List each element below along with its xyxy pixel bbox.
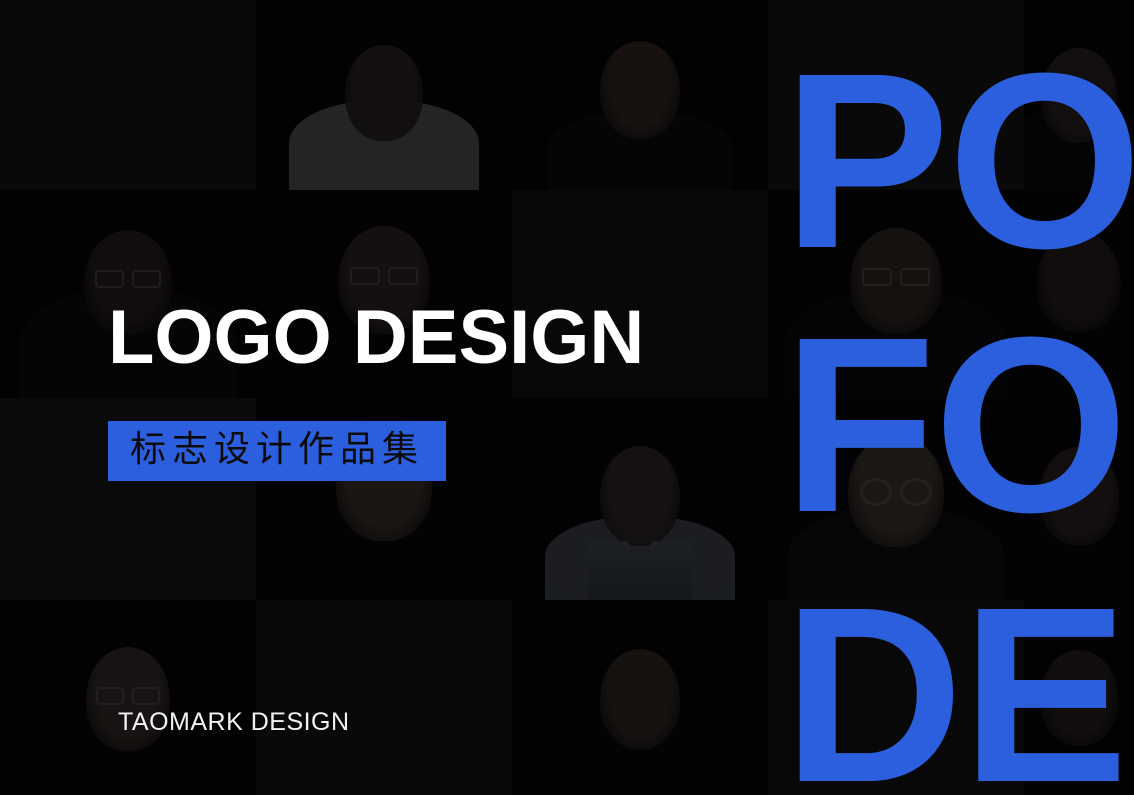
portrait-glasses [350,267,418,285]
portrait-face [345,45,423,141]
tile-r1c2 [256,0,512,190]
poster-canvas: PO FO DE LOGO DESIGN 标志设计作品集 TAOMARK DES… [0,0,1134,795]
portrait-photo [1024,600,1134,795]
headline-block: LOGO DESIGN 标志设计作品集 [108,300,644,481]
portrait-photo [1024,0,1134,190]
portrait-photo [256,0,512,190]
brand-name: TAOMARK DESIGN [118,708,350,737]
subtitle-badge: 标志设计作品集 [108,421,446,481]
portrait-face [600,649,680,749]
portrait-glasses [96,687,160,705]
tile-r4c4 [768,600,1024,795]
page-title: LOGO DESIGN [108,300,644,376]
portrait-photo [1024,398,1134,600]
portrait-glasses [95,270,161,288]
portrait-face [1039,447,1119,545]
tile-r3c4 [768,398,1024,600]
portrait-face [1041,48,1117,143]
tile-r2c4 [768,190,1024,398]
tile-r1c3 [512,0,768,190]
tile-r1c4 [768,0,1024,190]
portrait-face [1040,650,1118,746]
portrait-photo [768,398,1024,600]
portrait-photo [512,0,768,190]
portrait-photo [1024,190,1134,398]
portrait-glasses [862,268,930,286]
tile-r4c5 [1024,600,1134,795]
portrait-face [1037,232,1121,332]
tile-r3c5 [1024,398,1134,600]
tile-r4c3 [512,600,768,795]
tile-r2c5 [1024,190,1134,398]
portrait-photo [768,190,1024,398]
portrait-face [600,41,680,139]
tile-r1c1 [0,0,256,190]
portrait-photo [0,600,256,795]
tile-r4c1 [0,600,256,795]
tile-r1c5 [1024,0,1134,190]
portrait-photo [512,600,768,795]
tile-r4c2 [256,600,512,795]
subtitle-label: 标志设计作品集 [130,429,424,470]
portrait-glasses [860,478,932,506]
